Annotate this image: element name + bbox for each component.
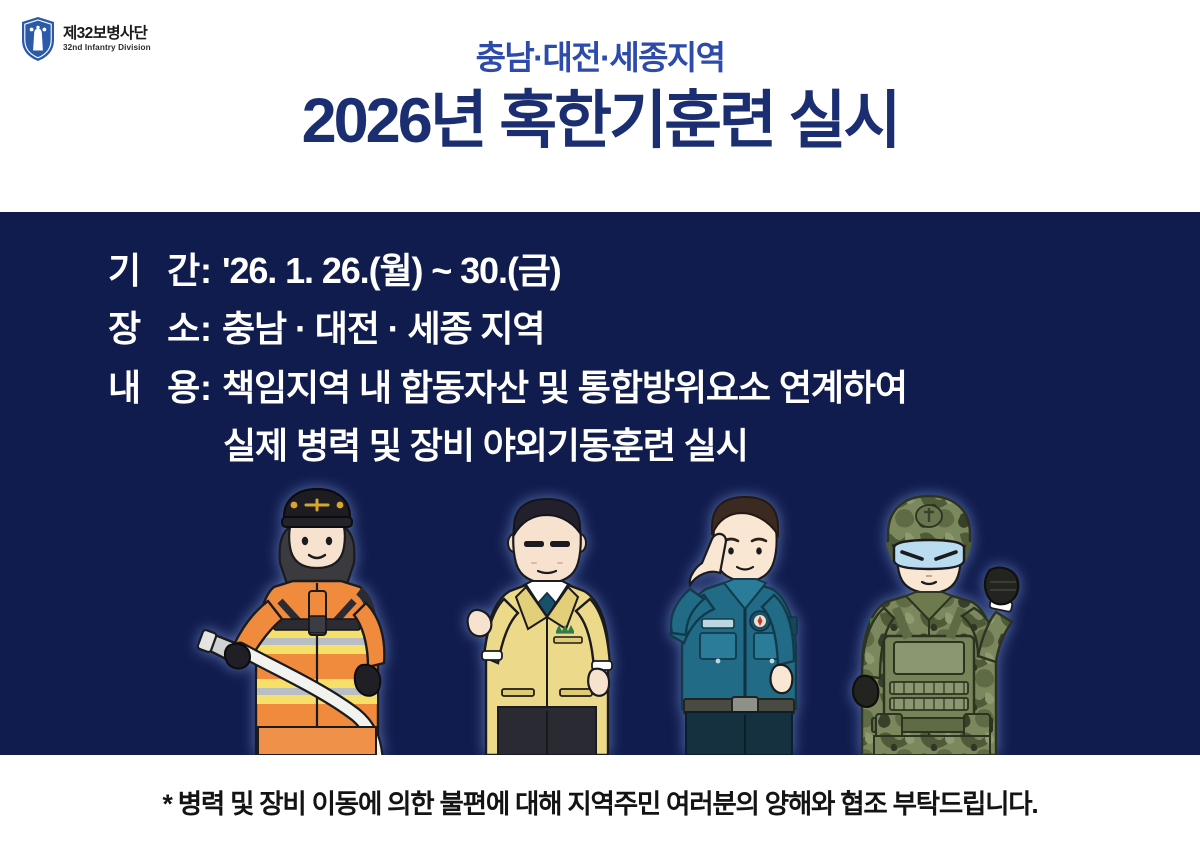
info-colon-location: : [200,300,222,358]
info-row-content: 내 용 : 책임지역 내 합동자산 및 통합방위요소 연계하여 [108,359,907,417]
info-label-period: 기 간 [108,242,200,300]
info-value-location: 충남 · 대전 · 세종 지역 [222,300,544,358]
info-row-location: 장 소 : 충남 · 대전 · 세종 지역 [108,300,907,358]
info-row-period: 기 간 : '26. 1. 26.(월) ~ 30.(금) [108,242,907,300]
poster-main-title: 2026년 혹한기훈련 실시 [0,86,1200,157]
info-colon-content: : [200,359,222,417]
poster-root: 제32보병사단 32nd Infantry Division 충남·대전·세종지… [0,0,1200,848]
title-block: 충남·대전·세종지역 2026년 혹한기훈련 실시 [0,40,1200,157]
poster-footer: * 병력 및 장비 이동에 의한 불편에 대해 지역주민 여러분의 양해와 협조… [0,755,1200,848]
poster-body-panel: 기 간 : '26. 1. 26.(월) ~ 30.(금) 장 소 : 충남 ·… [0,212,1200,755]
figure-police-officer [632,493,832,755]
info-value-content-continued: 실제 병력 및 장비 야외기동훈련 실시 [108,417,907,475]
poster-subtitle: 충남·대전·세종지역 [0,40,1200,76]
figure-soldier [838,490,1028,755]
figure-government-official [452,493,642,755]
division-name-korean: 제32보병사단 [63,26,151,42]
training-info-list: 기 간 : '26. 1. 26.(월) ~ 30.(금) 장 소 : 충남 ·… [108,242,907,475]
figure-group [0,475,1200,755]
info-value-period: '26. 1. 26.(월) ~ 30.(금) [222,242,561,300]
info-label-content: 내 용 [108,359,200,417]
info-label-location: 장 소 [108,300,200,358]
info-value-content: 책임지역 내 합동자산 및 통합방위요소 연계하여 [222,359,907,417]
poster-header: 제32보병사단 32nd Infantry Division 충남·대전·세종지… [0,0,1200,212]
figure-firefighter [196,483,426,755]
footer-notice: * 병력 및 장비 이동에 의한 불편에 대해 지역주민 여러분의 양해와 협조… [163,782,1038,821]
info-colon-period: : [200,242,222,300]
